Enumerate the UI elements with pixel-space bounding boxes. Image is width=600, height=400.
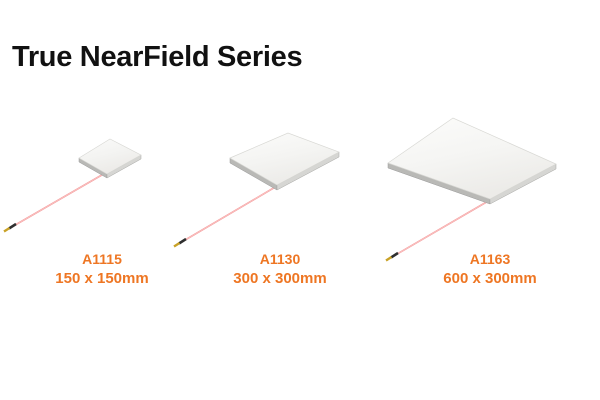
product-dimensions: 150 x 150mm bbox=[12, 269, 192, 288]
product-label-a1115: A1115 150 x 150mm bbox=[12, 250, 192, 288]
product-label-a1130: A1130 300 x 300mm bbox=[190, 250, 370, 288]
coax-cable-icon bbox=[392, 200, 490, 257]
product-series-canvas: True NearField Series bbox=[0, 0, 600, 400]
connector-tip-icon bbox=[174, 239, 186, 247]
product-label-a1163: A1163 600 x 300mm bbox=[400, 250, 580, 288]
antenna-panel-icon bbox=[388, 118, 556, 204]
connector-tip-icon bbox=[4, 224, 16, 232]
antenna-panel-icon bbox=[79, 139, 141, 178]
coax-cable-icon bbox=[10, 172, 107, 228]
connector-tip-icon bbox=[386, 253, 398, 261]
product-code: A1130 bbox=[190, 250, 370, 269]
antenna-panel-icon bbox=[230, 133, 339, 190]
product-dimensions: 600 x 300mm bbox=[400, 269, 580, 288]
page-title: True NearField Series bbox=[12, 40, 302, 74]
product-code: A1163 bbox=[400, 250, 580, 269]
product-code: A1115 bbox=[12, 250, 192, 269]
product-dimensions: 300 x 300mm bbox=[190, 269, 370, 288]
coax-cable-icon bbox=[180, 186, 277, 243]
